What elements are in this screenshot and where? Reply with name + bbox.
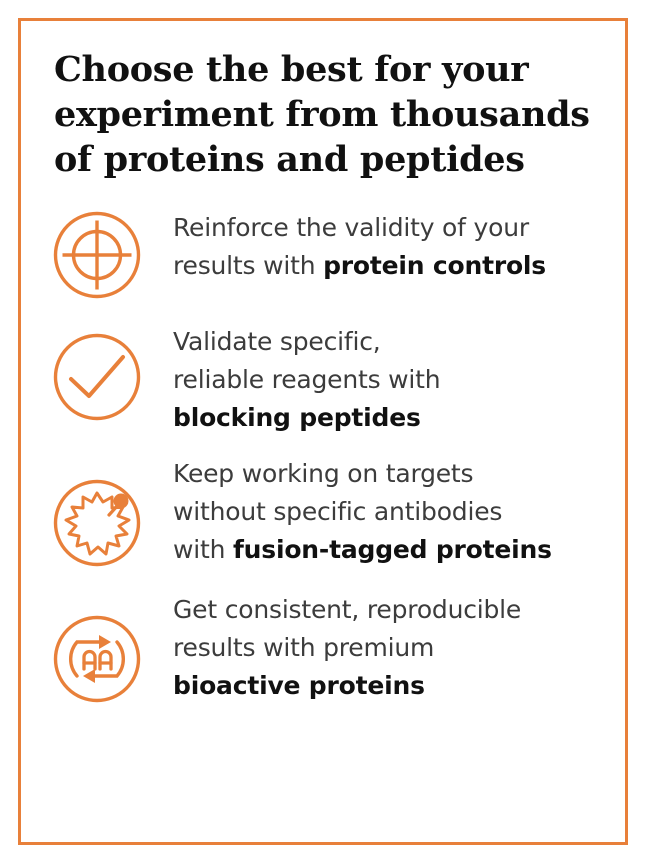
feature-line: without specific antibodies — [173, 493, 619, 531]
promo-card: Choose the best for your experiment from… — [18, 18, 628, 845]
page-title: Choose the best for your experiment from… — [54, 47, 599, 182]
feature-line: reliable reagents with — [173, 361, 619, 399]
headline-line-1: Choose the best for your — [54, 49, 528, 90]
crosshair-target-icon — [51, 209, 143, 301]
headline-line-2: experiment from thousands — [54, 94, 590, 135]
feature-line: Reinforce the validity of your — [173, 209, 619, 247]
feature-description: Reinforce the validity of your results w… — [173, 209, 625, 285]
feature-list: Reinforce the validity of your results w… — [21, 209, 625, 705]
feature-icon-slot — [21, 591, 173, 705]
feature-line: blocking peptides — [173, 399, 619, 437]
feature-line: Keep working on targets — [173, 455, 619, 493]
list-item: Validate specific, reliable reagents wit… — [21, 323, 625, 437]
feature-icon-slot — [21, 209, 173, 301]
feature-description: Keep working on targets without specific… — [173, 455, 625, 569]
recycle-amino-acid-icon — [51, 613, 143, 705]
list-item: Keep working on targets without specific… — [21, 455, 625, 569]
feature-line: results with protein controls — [173, 247, 619, 285]
feature-icon-slot — [21, 323, 173, 423]
tagged-protein-burst-icon — [51, 477, 143, 569]
feature-description: Validate specific, reliable reagents wit… — [173, 323, 625, 437]
feature-line: results with premium — [173, 629, 619, 667]
checkmark-circle-icon — [51, 331, 143, 423]
feature-line: Validate specific, — [173, 323, 619, 361]
feature-line: bioactive proteins — [173, 667, 619, 705]
feature-line: Get consistent, reproducible — [173, 591, 619, 629]
feature-icon-slot — [21, 455, 173, 569]
list-item: Reinforce the validity of your results w… — [21, 209, 625, 309]
list-item: Get consistent, reproducible results wit… — [21, 591, 625, 705]
feature-description: Get consistent, reproducible results wit… — [173, 591, 625, 705]
headline-line-3: of proteins and peptides — [54, 139, 525, 180]
feature-line: with fusion-tagged proteins — [173, 531, 619, 569]
